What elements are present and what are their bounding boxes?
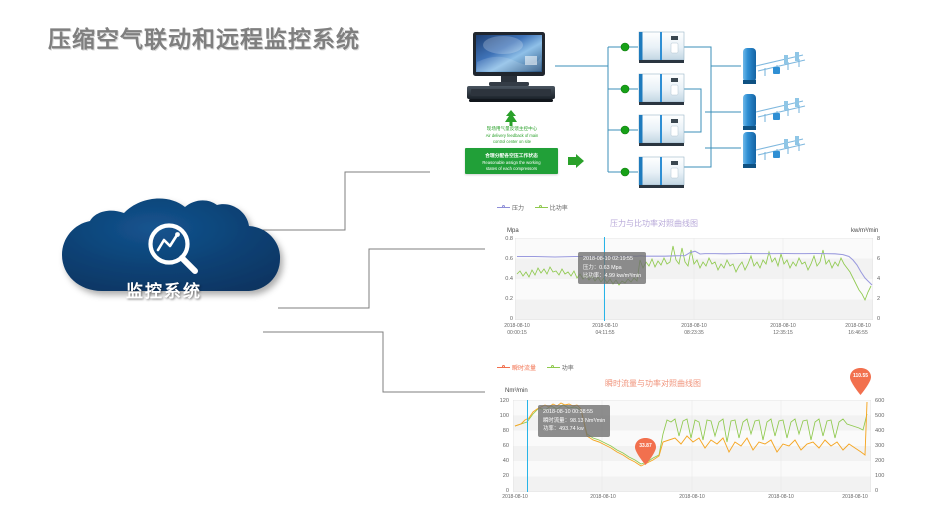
- chart1-legend-item-1[interactable]: 比功率: [535, 203, 568, 212]
- diagram-piping: [455, 22, 935, 202]
- connector-bottom: [263, 332, 500, 392]
- chart-magnifier-icon: [143, 220, 205, 278]
- chart2-legend-item-0[interactable]: 瞬时流量: [497, 363, 536, 372]
- chart1-legend-label-1: 比功率: [550, 206, 568, 212]
- air-receiver-group-1: [743, 48, 805, 84]
- chart2-ytickR-1: 500: [875, 413, 891, 419]
- chart1-ytick-4: 0: [497, 316, 513, 322]
- chart2-ytickR-5: 100: [875, 473, 891, 479]
- connector-middle: [278, 249, 485, 308]
- xt-t: 16:46:55: [848, 330, 867, 336]
- chart1-ytickR-0: 8: [877, 236, 893, 242]
- chart1-tooltip-line2: 比功率：4.99 kw/m³/min: [583, 272, 641, 281]
- legend-marker-icon: [497, 364, 510, 371]
- chart1-ytick-1: 0.6: [497, 256, 513, 262]
- chart2-marker-min-value: 33.87: [635, 443, 656, 449]
- chart2-xtick-4: 2018-08-10: [830, 494, 880, 501]
- chart1-ytick-2: 0.4: [497, 276, 513, 282]
- chart2-xtick-3: 2018-08-10: [756, 494, 806, 501]
- pressure-specific-power-chart[interactable]: 压力 比功率 压力与比功率对照曲线图 Mpa kw/m³/min 0.8 0.6…: [485, 200, 897, 335]
- chart2-cursor-line: [527, 400, 528, 492]
- compressor-unit-2: [639, 74, 684, 105]
- air-receiver-group-2: [743, 94, 805, 130]
- chart2-legend[interactable]: 瞬时流量 功率: [497, 363, 583, 372]
- chart1-plot: [515, 238, 873, 320]
- legend-marker-icon: [497, 204, 510, 211]
- chart1-tooltip-time: 2018-08-10 02:19:55: [583, 255, 641, 264]
- chart2-ytickR-3: 300: [875, 443, 891, 449]
- chart2-ytickR-2: 400: [875, 428, 891, 434]
- chart2-legend-label-0: 瞬时流量: [512, 366, 536, 372]
- xt-d: 2018-08-10: [592, 323, 618, 329]
- chart2-xtick-2: 2018-08-10: [667, 494, 717, 501]
- legend-marker-icon: [547, 364, 560, 371]
- chart1-legend-label-0: 压力: [512, 206, 524, 212]
- monitoring-system-cloud[interactable]: 监控系统: [38, 195, 290, 335]
- xt-t: 12:35:15: [773, 330, 792, 336]
- chart1-xtick-3: 2018-08-10 12:35:15: [758, 323, 808, 337]
- chart2-ytick-4: 40: [493, 458, 509, 464]
- chart1-ytick-3: 0.2: [497, 296, 513, 302]
- chart2-legend-item-1[interactable]: 功率: [547, 363, 574, 372]
- chart2-marker-min[interactable]: 33.87: [635, 438, 656, 465]
- chart1-xtick-4: 2018-08-10 16:46:55: [833, 323, 883, 337]
- chart2-legend-label-1: 功率: [562, 366, 574, 372]
- chart2-tooltip-line1: 瞬时流量：98.13 Nm³/min: [543, 417, 605, 426]
- slide-canvas: 压缩空气联动和远程监控系统: [0, 0, 945, 529]
- chart1-y-right-unit: kw/m³/min: [851, 228, 878, 234]
- chart2-marker-max[interactable]: 110.55: [850, 368, 871, 395]
- chart1-ytickR-1: 6: [877, 256, 893, 262]
- chart1-ytickR-3: 2: [877, 296, 893, 302]
- chart2-ytickR-4: 200: [875, 458, 891, 464]
- chart1-tooltip: 2018-08-10 02:19:55 压力：0.63 Mpa 比功率：4.99…: [578, 252, 646, 284]
- chart2-xtick-0: 2018-08-10: [490, 494, 540, 501]
- compressor-unit-3: [639, 115, 684, 146]
- chart2-ytick-3: 60: [493, 443, 509, 449]
- system-diagram: 现场用气量反馈主控中心 Air delivery feedback of mai…: [455, 22, 935, 202]
- chart1-y-left-unit: Mpa: [507, 228, 519, 234]
- chart1-tooltip-line1: 压力：0.63 Mpa: [583, 264, 641, 273]
- status-node-group: [621, 43, 629, 176]
- chart1-xtick-1: 2018-08-10 04:11:55: [580, 323, 630, 337]
- compressor-unit-4: [639, 157, 684, 188]
- page-title: 压缩空气联动和远程监控系统: [48, 20, 360, 54]
- chart2-ytick-5: 20: [493, 473, 509, 479]
- xt-t: 04:11:55: [595, 330, 614, 336]
- chart2-ytick-1: 100: [493, 413, 509, 419]
- chart2-ytick-2: 80: [493, 428, 509, 434]
- xt-t: 08:23:35: [684, 330, 703, 336]
- chart1-ytickR-4: 0: [877, 316, 893, 322]
- xt-d: 2018-08-10: [770, 323, 796, 329]
- chart2-marker-max-value: 110.55: [850, 373, 871, 379]
- chart2-tooltip-line2: 功率：493.74 kw: [543, 425, 605, 434]
- legend-marker-icon: [535, 204, 548, 211]
- chart2-y-left-unit: Nm³/min: [505, 388, 528, 394]
- flow-power-chart[interactable]: 瞬时流量 功率 瞬时流量与功率对照曲线图 Nm³/min 120 100 80 …: [485, 360, 897, 525]
- chart2-tooltip-time: 2018-08-10 00:38:55: [543, 408, 605, 417]
- compressor-unit-1: [639, 32, 684, 63]
- chart2-tooltip: 2018-08-10 00:38:55 瞬时流量：98.13 Nm³/min 功…: [538, 405, 610, 437]
- chart1-legend[interactable]: 压力 比功率: [497, 203, 577, 212]
- xt-t: 00:00:15: [507, 330, 526, 336]
- xt-d: 2018-08-10: [504, 323, 530, 329]
- chart2-ytickR-0: 600: [875, 398, 891, 404]
- chart1-xtick-0: 2018-08-10 00:00:15: [492, 323, 542, 337]
- xt-d: 2018-08-10: [681, 323, 707, 329]
- chart1-title: 压力与比功率对照曲线图: [610, 218, 698, 229]
- chart1-ytickR-2: 4: [877, 276, 893, 282]
- xt-d: 2018-08-10: [845, 323, 871, 329]
- chart1-legend-item-0[interactable]: 压力: [497, 203, 524, 212]
- chart2-ytick-0: 120: [493, 398, 509, 404]
- chart1-xtick-2: 2018-08-10 08:23:35: [669, 323, 719, 337]
- chart2-title: 瞬时流量与功率对照曲线图: [605, 378, 701, 389]
- chart1-ytick-0: 0.8: [497, 236, 513, 242]
- air-receiver-group-3: [743, 132, 805, 168]
- chart2-xtick-1: 2018-08-10: [578, 494, 628, 501]
